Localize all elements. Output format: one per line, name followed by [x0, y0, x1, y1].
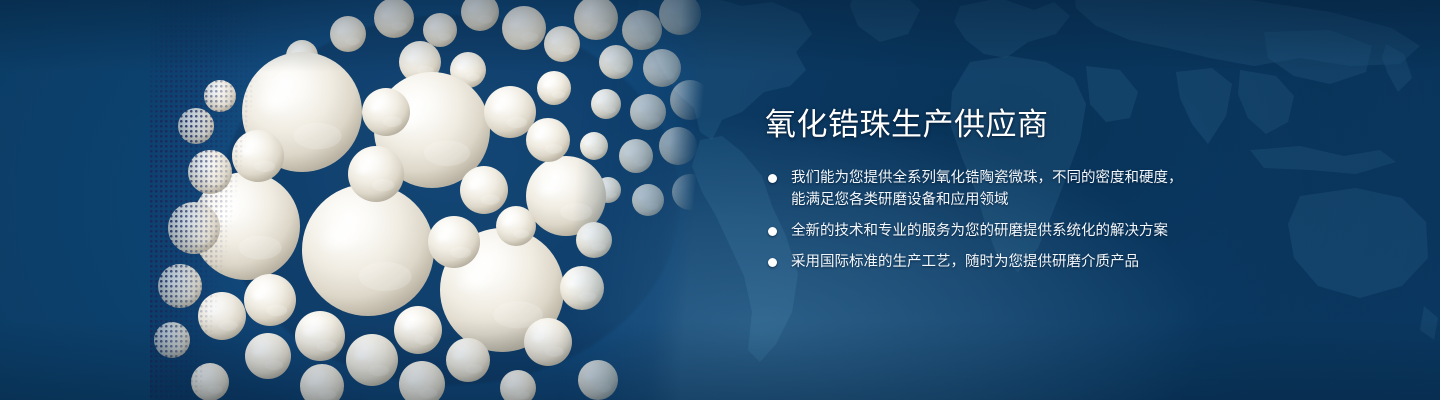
filled-circle-icon	[768, 227, 777, 236]
filled-circle-icon	[768, 258, 777, 267]
bullet-item-1: 我们能为您提供全系列氧化锆陶瓷微珠，不同的密度和硬度， 能满足您各类研磨设备和应…	[765, 167, 1405, 211]
beads-photo-canvas	[150, 0, 710, 400]
zirconia-beads-photo	[150, 0, 710, 400]
bullet-1-line-2: 能满足您各类研磨设备和应用领域	[791, 189, 1405, 211]
filled-circle-icon	[768, 174, 777, 183]
hero-banner: 氧化锆珠生产供应商 我们能为您提供全系列氧化锆陶瓷微珠，不同的密度和硬度， 能满…	[0, 0, 1440, 400]
bullet-item-3: 采用国际标准的生产工艺，随时为您提供研磨介质产品	[765, 251, 1405, 273]
bullet-2-line-1: 全新的技术和专业的服务为您的研磨提供系统化的解决方案	[791, 220, 1405, 242]
banner-headline: 氧化锆珠生产供应商	[765, 108, 1405, 141]
banner-copy: 氧化锆珠生产供应商 我们能为您提供全系列氧化锆陶瓷微珠，不同的密度和硬度， 能满…	[765, 108, 1405, 273]
bullet-3-line-1: 采用国际标准的生产工艺，随时为您提供研磨介质产品	[791, 251, 1405, 273]
bullet-item-2: 全新的技术和专业的服务为您的研磨提供系统化的解决方案	[765, 220, 1405, 242]
bullet-1-line-1: 我们能为您提供全系列氧化锆陶瓷微珠，不同的密度和硬度，	[791, 167, 1405, 189]
banner-bullet-list: 我们能为您提供全系列氧化锆陶瓷微珠，不同的密度和硬度， 能满足您各类研磨设备和应…	[765, 167, 1405, 273]
